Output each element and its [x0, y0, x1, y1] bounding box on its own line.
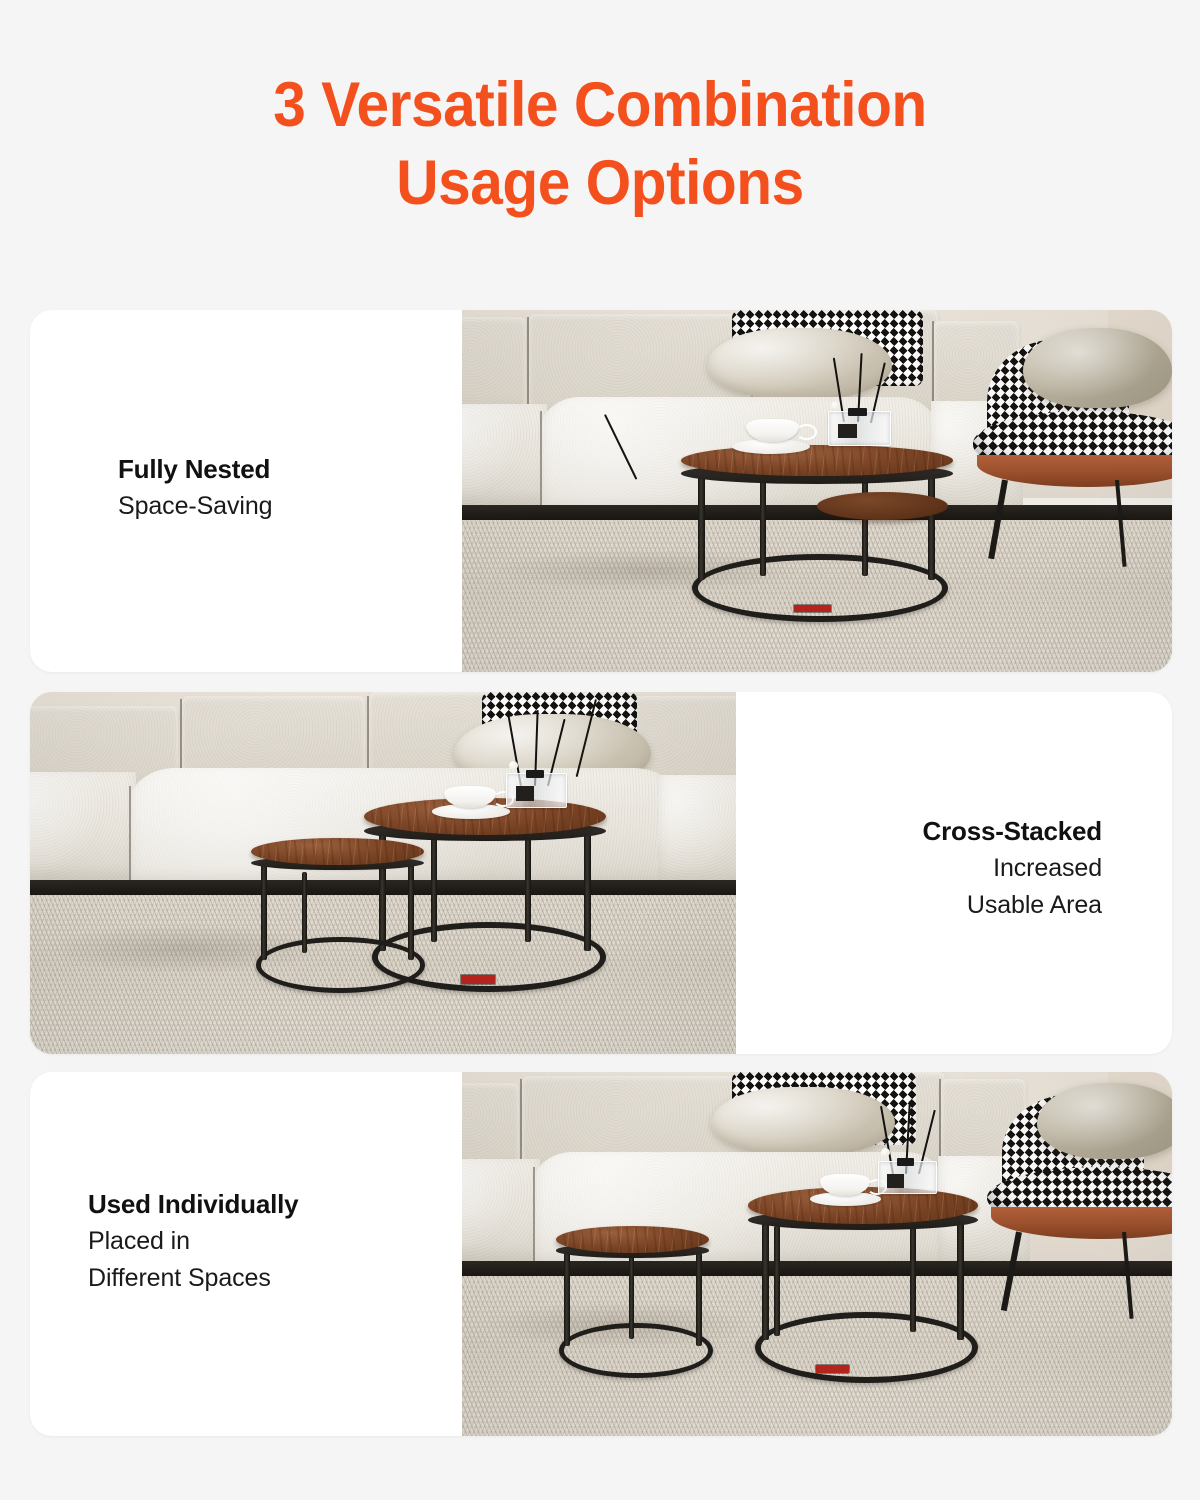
sofa-seat-seam [540, 411, 542, 512]
panel-subline-1: Placed in [88, 1223, 298, 1260]
accent-chair-cushion [1023, 328, 1172, 408]
panel-headline: Used Individually [88, 1185, 298, 1223]
sofa-seat-left [462, 1159, 540, 1261]
table-large-individual [746, 1181, 980, 1385]
accent-chair-cushion [1037, 1083, 1172, 1159]
title-line-1: 3 Versatile Combination [42, 66, 1158, 144]
table-leg-small-right [696, 1253, 702, 1346]
living-room-scene-1 [462, 310, 1172, 672]
panel-headline: Fully Nested [118, 450, 272, 488]
sofa-seat-left [462, 404, 547, 505]
table-leg-small-back [629, 1256, 634, 1339]
diffuser-cap-1 [848, 408, 866, 417]
brand-tag [816, 1365, 849, 1373]
nesting-table-group-nested [675, 429, 959, 617]
table-top-large [681, 445, 954, 477]
diffuser-cap-2 [526, 770, 544, 778]
table-leg-small-left [564, 1253, 570, 1346]
table-base-ring-large [755, 1312, 978, 1383]
panel-text-used-individually: Used Individually Placed in Different Sp… [88, 1185, 298, 1297]
sofa-seat-left [30, 772, 136, 881]
table-base-ring-small [559, 1323, 713, 1378]
living-room-scene-3 [462, 1072, 1172, 1436]
cup-handle-1 [796, 424, 817, 440]
panel-photo-used-individually [462, 1072, 1172, 1436]
living-room-scene-2 [30, 692, 736, 1054]
table-leg-large-right [928, 471, 935, 580]
table-top-small [251, 838, 424, 866]
table-leg-large-back-left [774, 1226, 780, 1336]
table-top-small [556, 1226, 709, 1253]
brand-tag [461, 975, 496, 983]
table-leg-large-right [584, 831, 591, 951]
sofa-seat-seam [129, 786, 131, 884]
panel-subline-2: Different Spaces [88, 1260, 298, 1297]
diffuser-label-1 [838, 424, 856, 438]
table-leg-large-back-left [760, 478, 766, 576]
diffuser-bloom [831, 401, 840, 410]
table-top-small-nested [817, 492, 948, 520]
table-leg-large-back-right [910, 1226, 916, 1332]
brand-tag [794, 605, 831, 613]
panel-headline: Cross-Stacked [923, 812, 1102, 850]
panel-text-fully-nested: Fully Nested Space-Saving [118, 450, 272, 525]
diffuser-cap-3 [897, 1158, 915, 1166]
panel-photo-cross-stacked [30, 692, 736, 1054]
table-leg-large-right [957, 1222, 964, 1340]
table-leg-large-left [762, 1222, 769, 1340]
table-small-cross-stacked [249, 830, 426, 993]
table-leg-large-back-right [525, 839, 531, 942]
diffuser-bloom [509, 761, 518, 770]
panel-text-cross-stacked: Cross-Stacked Increased Usable Area [923, 812, 1102, 924]
table-leg-small-back-left [302, 872, 307, 953]
diffuser-label-2 [516, 786, 534, 800]
panel-photo-fully-nested [462, 310, 1172, 672]
panel-subline-2: Usable Area [923, 887, 1102, 924]
sofa-seat-seam [533, 1167, 535, 1265]
table-base-ring-small [256, 937, 425, 993]
table-leg-large-left [698, 471, 705, 580]
taupe-lumbar-pillow [711, 1087, 896, 1156]
taupe-lumbar-pillow [707, 328, 892, 400]
sofa-seat-right [658, 775, 736, 884]
table-leg-large-back-left [431, 839, 437, 942]
title-line-2: Usage Options [42, 144, 1158, 222]
panel-subline-1: Increased [923, 850, 1102, 887]
panel-subline-1: Space-Saving [118, 488, 272, 525]
table-leg-small-right [408, 865, 414, 959]
diffuser-label-3 [887, 1174, 905, 1188]
infographic-page: 3 Versatile Combination Usage Options [0, 0, 1200, 1500]
page-title: 3 Versatile Combination Usage Options [0, 66, 1200, 222]
table-leg-small-left [261, 865, 267, 959]
table-small-individual [554, 1218, 710, 1378]
